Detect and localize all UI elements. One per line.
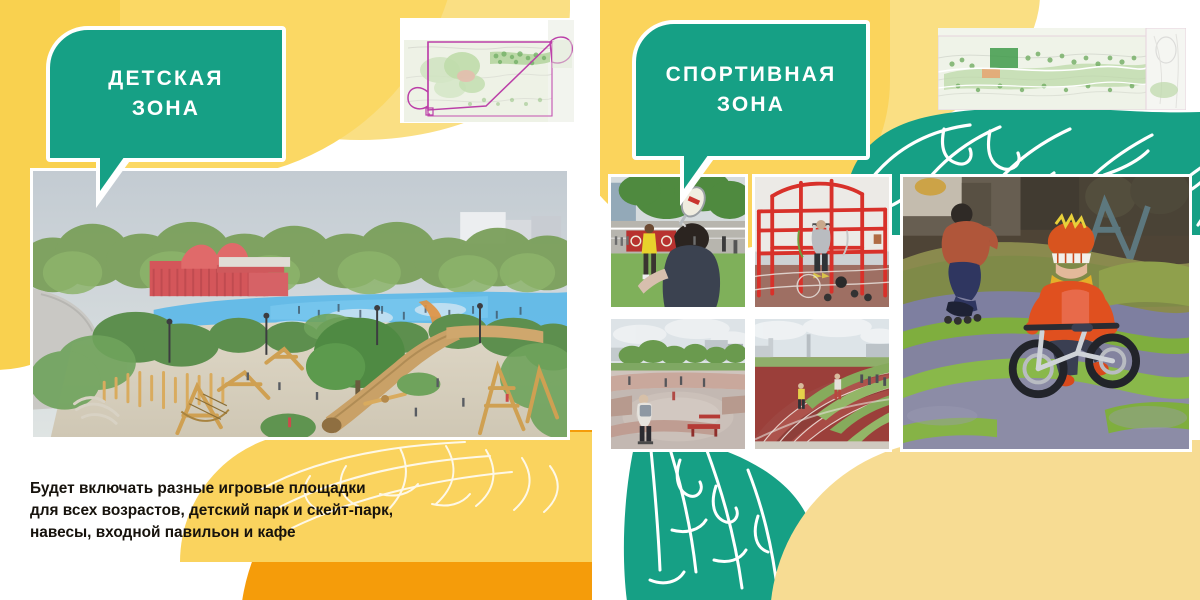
badge-sport-zone[interactable]: СПОРТИВНАЯЗОНА xyxy=(632,20,870,160)
panel-children-zone: ДЕТСКАЯЗОНА xyxy=(0,0,592,600)
photo-skatepark[interactable] xyxy=(608,316,748,452)
photo-running-track[interactable] xyxy=(752,316,892,452)
photo-workout-bars[interactable] xyxy=(752,174,892,310)
poster-canvas: ДЕТСКАЯЗОНА xyxy=(0,0,1200,600)
photo-pumptrack[interactable] xyxy=(900,174,1192,452)
map-thumbnail-sport-zone[interactable] xyxy=(938,28,1186,110)
photo-badminton[interactable] xyxy=(608,174,748,310)
badge-sport-zone-label: СПОРТИВНАЯЗОНА xyxy=(656,60,847,120)
caption-children-zone: Будет включать разные игровые площадки д… xyxy=(30,478,393,544)
panel-sport-zone: СПОРТИВНАЯЗОНА xyxy=(600,0,1200,600)
photo-playground-render[interactable] xyxy=(30,168,570,440)
badge-children-zone-label: ДЕТСКАЯЗОНА xyxy=(98,64,233,124)
map-thumbnail-children-zone[interactable] xyxy=(400,18,575,123)
badge-children-zone[interactable]: ДЕТСКАЯЗОНА xyxy=(46,26,286,162)
